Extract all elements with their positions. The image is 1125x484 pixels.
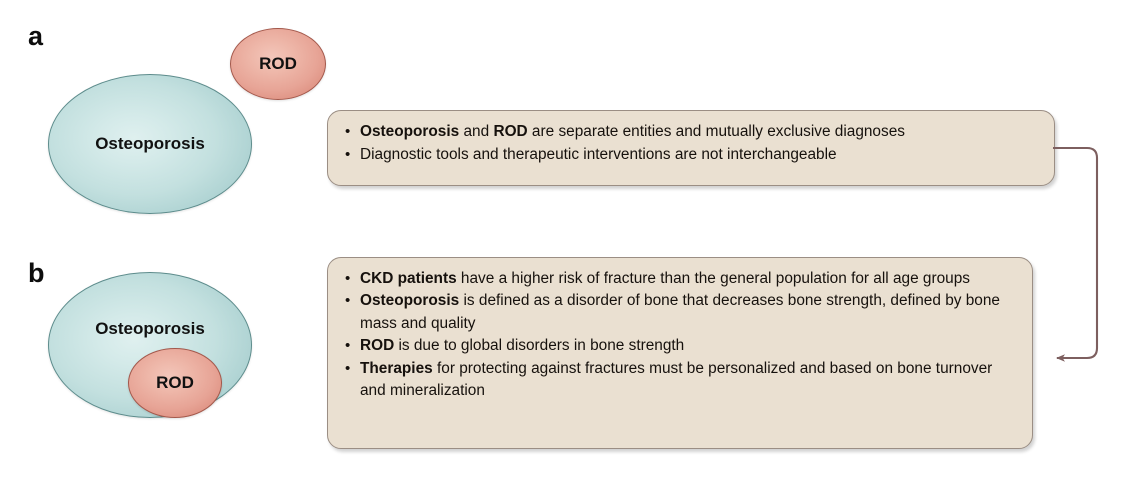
bullet-item: ROD is due to global disorders in bone s… — [343, 335, 1016, 357]
bullet-list-panel-b: CKD patients have a higher risk of fract… — [343, 268, 1016, 403]
bullet-list-panel-a: Osteoporosis and ROD are separate entiti… — [343, 121, 1038, 167]
osteoporosis-ellipse-label-b: Osteoporosis — [49, 319, 251, 339]
rod-ellipse-panel-a: ROD — [230, 28, 326, 100]
osteoporosis-ellipse-panel-a: Osteoporosis — [48, 74, 252, 214]
panel-label-a: a — [28, 23, 43, 50]
bullet-plain-text: and — [459, 123, 493, 140]
panel-label-b: b — [28, 260, 45, 287]
bullet-bold-term: Osteoporosis — [360, 123, 459, 140]
bullet-rest-text: is due to global disorders in bone stren… — [394, 337, 684, 354]
bullet-plain-text: Diagnostic tools and therapeutic interve… — [360, 146, 837, 163]
bullet-bold-term: Therapies — [360, 360, 433, 377]
bullet-rest-text: are separate entities and mutually exclu… — [528, 123, 905, 140]
bullet-rest-text: for protecting against fractures must be… — [360, 360, 992, 399]
figure-root: a Osteoporosis ROD Osteoporosis and ROD … — [0, 0, 1125, 484]
connector-arrow-icon — [1045, 130, 1125, 380]
bullet-item: CKD patients have a higher risk of fract… — [343, 268, 1016, 290]
rod-ellipse-panel-b: ROD — [128, 348, 222, 418]
bullet-item: Therapies for protecting against fractur… — [343, 358, 1016, 403]
callout-box-panel-b: CKD patients have a higher risk of fract… — [327, 257, 1033, 449]
rod-ellipse-label-b: ROD — [156, 373, 194, 393]
osteoporosis-ellipse-label-a: Osteoporosis — [95, 134, 205, 154]
callout-box-panel-a: Osteoporosis and ROD are separate entiti… — [327, 110, 1055, 186]
bullet-bold-term: ROD — [360, 337, 394, 354]
bullet-bold-term: Osteoporosis — [360, 292, 459, 309]
bullet-item: Osteoporosis is defined as a disorder of… — [343, 290, 1016, 335]
bullet-bold-term-2: ROD — [493, 123, 527, 140]
rod-ellipse-label-a: ROD — [259, 54, 297, 74]
bullet-rest-text: have a higher risk of fracture than the … — [457, 270, 970, 287]
bullet-bold-term: CKD patients — [360, 270, 457, 287]
bullet-item: Diagnostic tools and therapeutic interve… — [343, 144, 1038, 167]
bullet-item: Osteoporosis and ROD are separate entiti… — [343, 121, 1038, 144]
